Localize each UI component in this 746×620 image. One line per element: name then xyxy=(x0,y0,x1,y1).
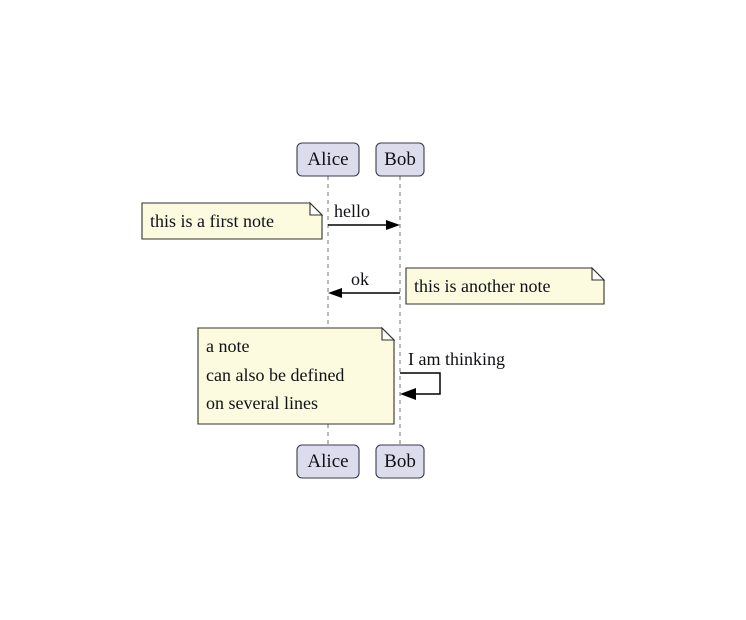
note-multiline[interactable]: a note can also be defined on several li… xyxy=(198,328,394,424)
participant-bob-top[interactable]: Bob xyxy=(376,143,424,176)
sequence-diagram-canvas: Alice Bob Alice Bob this is a first note xyxy=(0,0,746,620)
note-another[interactable]: this is another note xyxy=(406,268,604,304)
participant-alice-top[interactable]: Alice xyxy=(297,143,359,176)
note-multiline-fold-icon xyxy=(382,328,394,340)
note-another-line-0: this is another note xyxy=(414,276,550,296)
note-multiline-line-0: a note xyxy=(206,336,249,356)
message-hello[interactable]: hello xyxy=(328,201,400,230)
participants-top: Alice Bob xyxy=(297,143,424,176)
message-i-am-thinking-arrowhead-icon xyxy=(400,388,416,400)
participants-bottom: Alice Bob xyxy=(297,445,424,478)
message-hello-arrowhead-icon xyxy=(386,220,400,230)
message-ok-label: ok xyxy=(351,269,369,289)
note-another-fold-icon xyxy=(592,268,604,280)
sequence-diagram: Alice Bob Alice Bob this is a first note xyxy=(0,0,746,620)
note-multiline-line-1: can also be defined xyxy=(206,365,344,385)
participant-alice-bottom[interactable]: Alice xyxy=(297,445,359,478)
note-first-line-0: this is a first note xyxy=(150,211,274,231)
note-first[interactable]: this is a first note xyxy=(142,203,322,239)
note-multiline-line-2: on several lines xyxy=(206,393,318,413)
message-ok-arrowhead-icon xyxy=(328,288,342,298)
message-ok[interactable]: ok xyxy=(328,269,400,298)
note-first-fold-icon xyxy=(310,203,322,215)
message-i-am-thinking-label: I am thinking xyxy=(408,349,505,369)
message-i-am-thinking[interactable]: I am thinking xyxy=(400,349,505,400)
participant-label-alice-top: Alice xyxy=(307,149,348,170)
participant-label-alice-bottom: Alice xyxy=(307,451,348,472)
participant-label-bob-top: Bob xyxy=(384,149,416,170)
participant-bob-bottom[interactable]: Bob xyxy=(376,445,424,478)
message-i-am-thinking-loop[interactable] xyxy=(400,373,440,394)
message-hello-label: hello xyxy=(334,201,370,221)
participant-label-bob-bottom: Bob xyxy=(384,451,416,472)
